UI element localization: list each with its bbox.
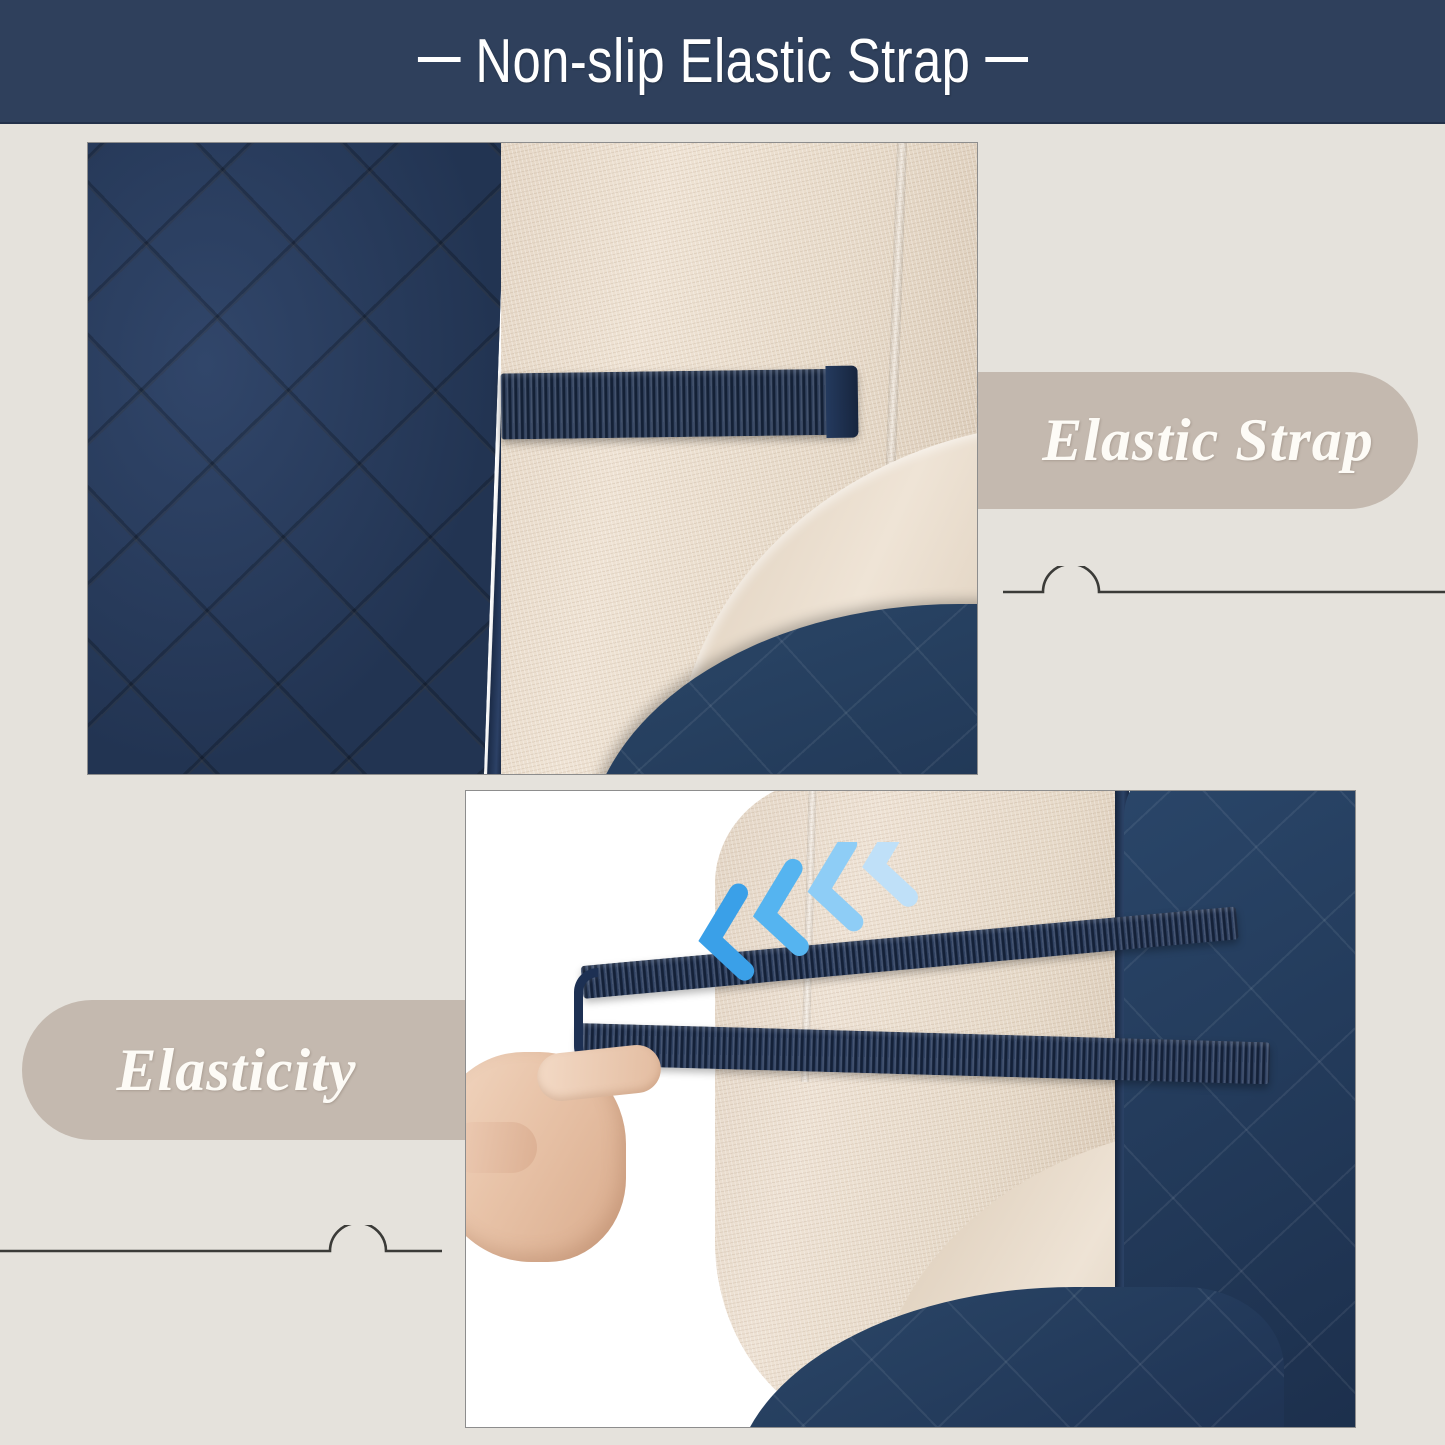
hand-knuckle xyxy=(465,1122,537,1173)
elastic-strap-end-cap xyxy=(825,366,858,438)
chevron-arrow-3 xyxy=(812,844,864,928)
title-dash-right-icon xyxy=(985,57,1028,62)
photo-elasticity-demo xyxy=(465,790,1356,1428)
chevron-arrow-4 xyxy=(866,842,918,903)
label-elasticity: Elasticity xyxy=(22,1000,465,1140)
chevron-arrow-2 xyxy=(757,868,809,952)
decorative-rule-right xyxy=(1003,566,1445,602)
label-elastic-strap: Elastic Strap xyxy=(978,372,1418,509)
photo-elastic-strap-closeup xyxy=(87,142,978,775)
title-dash-left-icon xyxy=(418,57,461,62)
page-title-text: Non-slip Elastic Strap xyxy=(475,27,970,96)
header-bar: Non-slip Elastic Strap xyxy=(0,0,1445,124)
motion-chevrons-icon xyxy=(617,842,990,1007)
label-elastic-strap-text: Elastic Strap xyxy=(1042,406,1373,475)
bottom-spacer xyxy=(0,1428,1445,1445)
page-title: Non-slip Elastic Strap xyxy=(403,26,1042,97)
elastic-strap-band xyxy=(501,369,857,440)
chevron-arrow-1 xyxy=(702,893,754,977)
decorative-rule-left xyxy=(0,1225,442,1261)
quilted-navy-fabric xyxy=(87,143,506,774)
label-elasticity-text: Elasticity xyxy=(117,1036,357,1105)
